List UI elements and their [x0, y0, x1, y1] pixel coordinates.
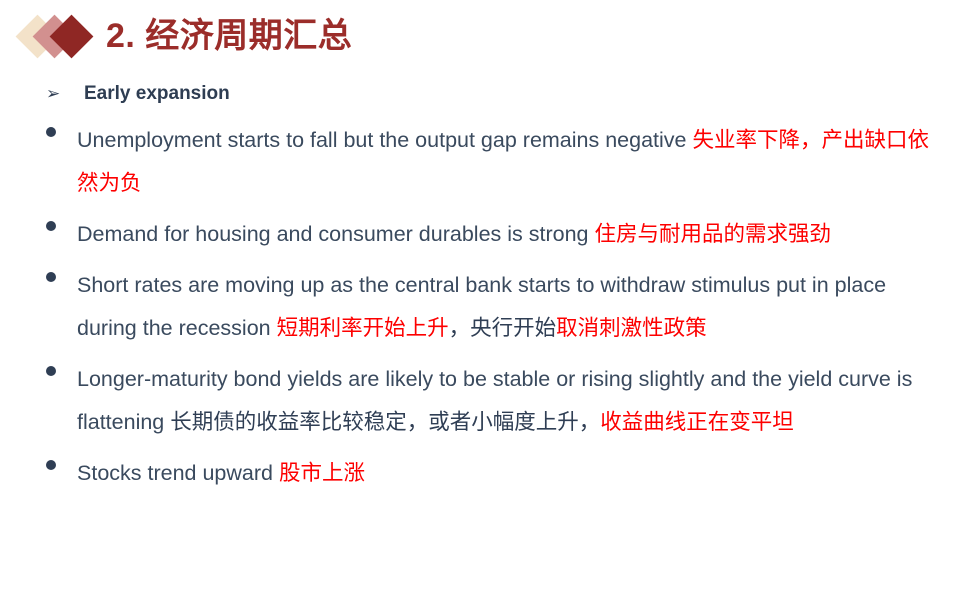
text-segment: Unemployment starts to fall but the outp…	[77, 128, 692, 152]
text-segment: 长期债的收益率比较稳定，或者小幅度上升，	[170, 410, 600, 434]
text-segment: Stocks trend upward	[77, 461, 279, 485]
bullet-dot-icon	[46, 264, 77, 282]
text-segment: 收益曲线正在变平坦	[600, 410, 794, 434]
text-segment: Demand for housing and consumer durables…	[77, 222, 594, 246]
slide-body: ➢ Early expansion Unemployment starts to…	[0, 60, 962, 495]
bullet-text: Stocks trend upward 股市上涨	[77, 452, 944, 495]
text-segment: 短期利率开始上升	[277, 316, 449, 340]
bullet-dot-icon	[46, 358, 77, 376]
bullet-text: Demand for housing and consumer durables…	[77, 213, 944, 256]
text-segment: 住房与耐用品的需求强劲	[594, 222, 831, 246]
text-segment: 股市上涨	[279, 461, 365, 485]
bullet-list: Unemployment starts to fall but the outp…	[46, 119, 944, 495]
bullet-housing-demand: Demand for housing and consumer durables…	[46, 213, 944, 256]
text-segment: ，央行开始	[449, 316, 557, 340]
text-segment: 取消刺激性政策	[556, 316, 707, 340]
outline-level1-label: Early expansion	[84, 82, 230, 107]
slide-title-row: 2. 经济周期汇总	[0, 0, 962, 60]
bullet-dot-icon	[46, 119, 77, 137]
bullet-text: Longer-maturity bond yields are likely t…	[77, 358, 944, 444]
bullet-text: Unemployment starts to fall but the outp…	[77, 119, 944, 205]
bullet-dot-icon	[46, 452, 77, 470]
bullet-short-rates: Short rates are moving up as the central…	[46, 264, 944, 350]
bullet-dot-icon	[46, 213, 77, 231]
bullet-stocks: Stocks trend upward 股市上涨	[46, 452, 944, 495]
outline-level1-early-expansion: ➢ Early expansion	[46, 82, 944, 107]
diamond-cluster-icon	[22, 12, 98, 62]
bullet-text: Short rates are moving up as the central…	[77, 264, 944, 350]
arrow-marker-icon: ➢	[46, 83, 84, 105]
bullet-bond-yields: Longer-maturity bond yields are likely t…	[46, 358, 944, 444]
bullet-unemployment: Unemployment starts to fall but the outp…	[46, 119, 944, 205]
page-title: 2. 经济周期汇总	[106, 18, 352, 55]
